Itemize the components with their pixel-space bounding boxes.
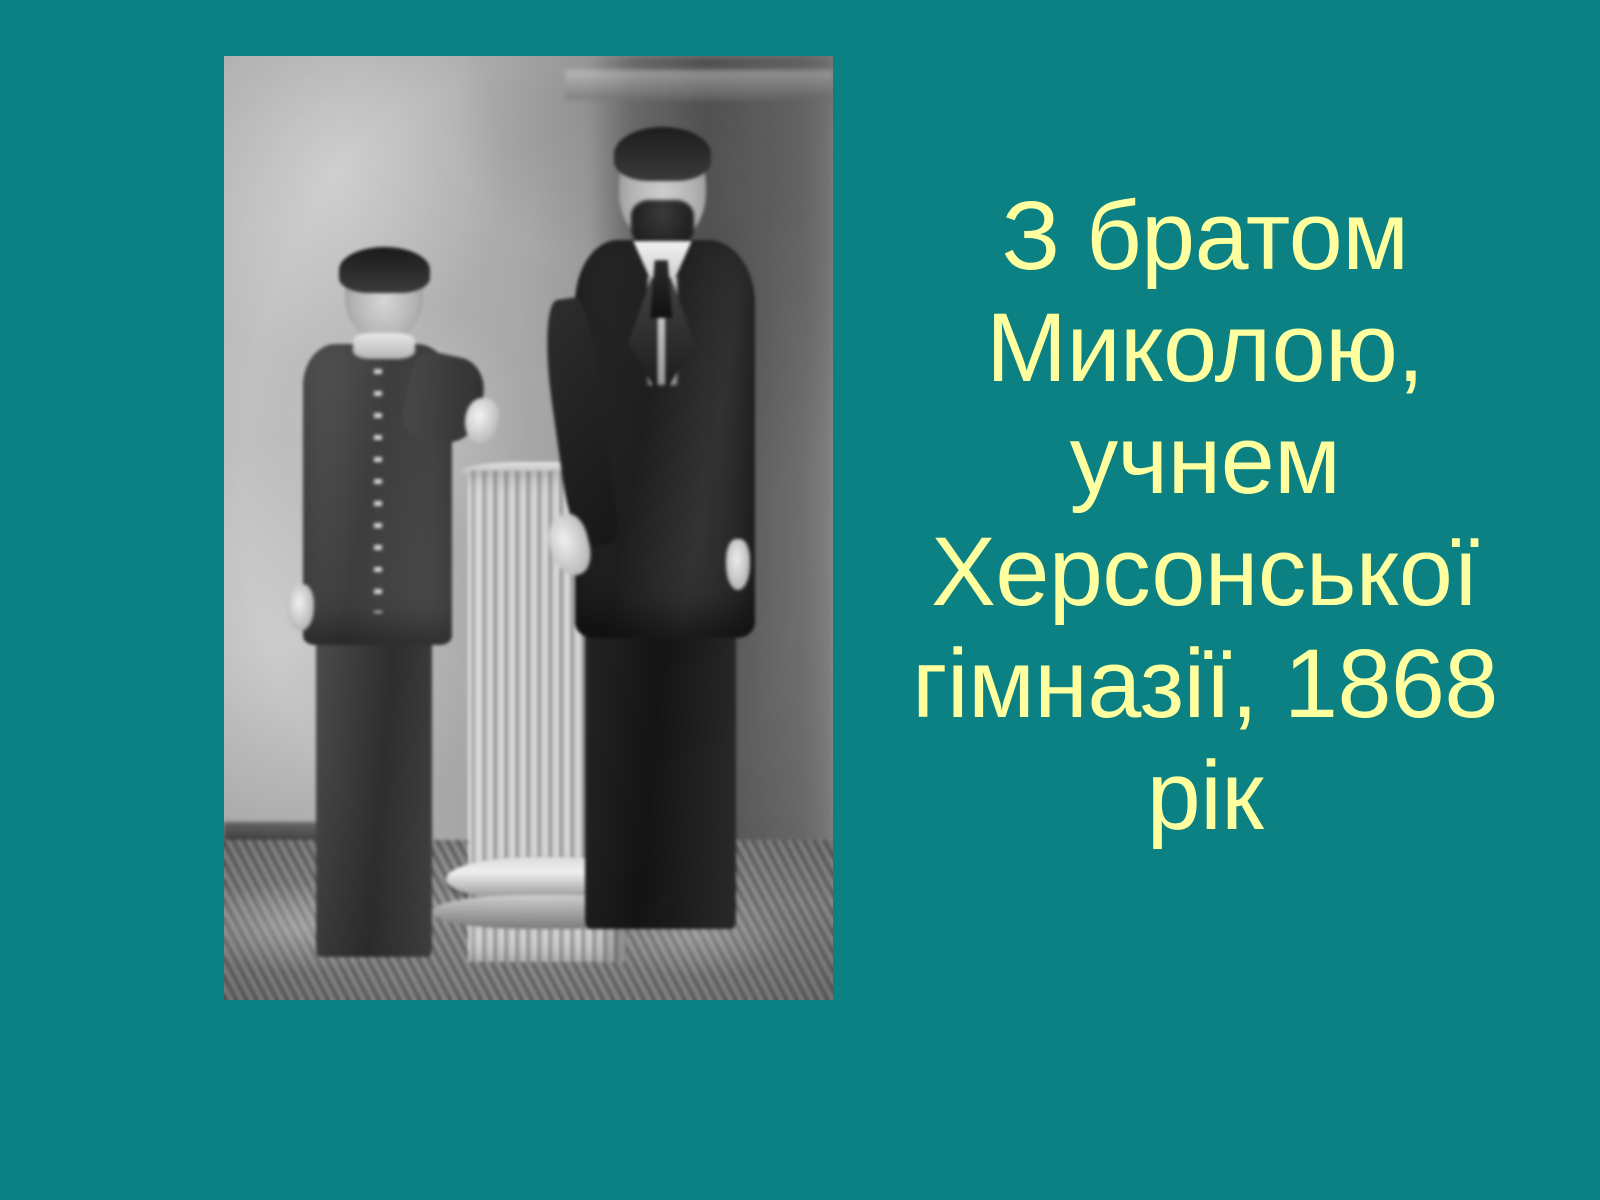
man-hair	[614, 127, 711, 182]
boy-legs	[316, 620, 432, 957]
man-right-hand	[726, 539, 750, 591]
boy-uniform-buttons	[374, 369, 382, 613]
boy-hair	[339, 247, 430, 293]
photo-content	[224, 56, 833, 1000]
slide-canvas: З братом Миколою, учнем Херсонської гімн…	[0, 0, 1600, 1200]
boy-left-hand	[287, 584, 314, 631]
figure-man	[565, 132, 809, 963]
man-legs	[585, 597, 736, 929]
slide-caption: З братом Миколою, учнем Херсонської гімн…	[905, 180, 1505, 852]
historical-photograph	[224, 56, 833, 1000]
figure-boy	[291, 254, 498, 971]
boy-collar	[353, 333, 415, 359]
